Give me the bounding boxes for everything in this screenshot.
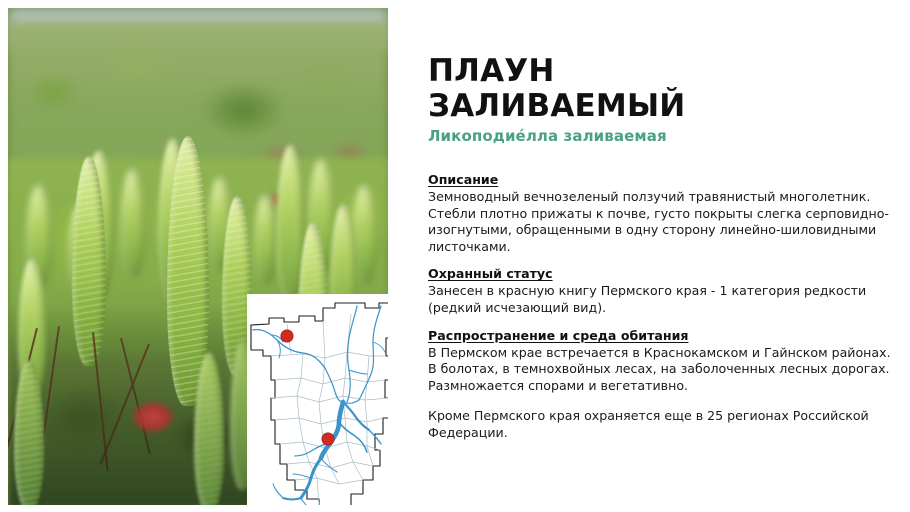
section-distribution-habitat: Распространение и среда обитания В Пермс… (428, 328, 894, 395)
species-info-card: ПЛАУНЗАЛИВАЕМЫЙ Ликоподие́лла заливаемая… (0, 0, 910, 512)
page-title: ПЛАУНЗАЛИВАЕМЫЙ (428, 54, 888, 124)
sundew-plant (130, 400, 176, 434)
occurrence-marker-gaynsky[interactable] (281, 330, 293, 342)
section-body-protection-status: Занесен в красную книгу Пермского края -… (428, 283, 894, 316)
section-heading-distribution-habitat: Распространение и среда обитания (428, 328, 894, 344)
section-heading-description: Описание (428, 172, 894, 188)
info-sections: Описание Земноводный вечнозеленый ползуч… (428, 172, 894, 454)
footnote-text: Кроме Пермского края охраняется еще в 25… (428, 408, 894, 441)
species-photo (8, 8, 388, 505)
occurrence-marker-krasnokamsky[interactable] (322, 433, 334, 445)
info-panel: ПЛАУНЗАЛИВАЕМЫЙ Ликоподие́лла заливаемая… (428, 0, 898, 512)
section-body-distribution-habitat: В Пермском крае встречается в Краснокамс… (428, 345, 894, 395)
title-line-2: ЗАЛИВАЕМЫЙ (428, 89, 888, 124)
section-heading-protection-status: Охранный статус (428, 266, 894, 282)
distribution-map[interactable] (247, 294, 388, 505)
species-subtitle: Ликоподие́лла заливаемая (428, 127, 667, 145)
title-line-1: ПЛАУН (428, 53, 555, 89)
section-protection-status: Охранный статус Занесен в красную книгу … (428, 266, 894, 316)
map-svg (247, 294, 388, 505)
section-body-description: Земноводный вечнозеленый ползучий травян… (428, 189, 894, 255)
section-description: Описание Земноводный вечнозеленый ползуч… (428, 172, 894, 255)
